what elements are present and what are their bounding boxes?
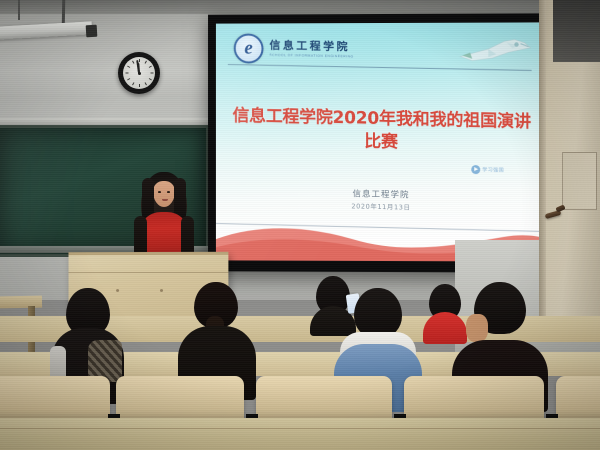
clock-center-pin xyxy=(138,72,141,75)
ceiling-band xyxy=(0,0,600,14)
chair-2[interactable] xyxy=(116,376,244,422)
presenter xyxy=(133,172,195,258)
classroom-photo: e 信息工程学院 SCHOOL OF INFORMATION ENGINEERI… xyxy=(0,0,600,450)
logo-name-en: SCHOOL OF INFORMATION ENGINEERING xyxy=(269,54,353,59)
clock-face xyxy=(123,57,155,89)
logo-name-cn: 信息工程学院 xyxy=(269,40,353,53)
slide-title: 信息工程学院2020年我和我的祖国演讲比赛 xyxy=(232,105,532,158)
projection-screen[interactable]: e 信息工程学院 SCHOOL OF INFORMATION ENGINEERI… xyxy=(208,13,560,272)
logo-letter: e xyxy=(236,38,262,57)
logo-text-block: 信息工程学院 SCHOOL OF INFORMATION ENGINEERING xyxy=(269,40,353,59)
chair-4[interactable] xyxy=(404,376,544,422)
light-end-cap xyxy=(86,25,98,38)
side-desk-left xyxy=(0,296,42,309)
corner-logo: 学习强国 xyxy=(471,165,504,175)
corner-logo-text: 学习强国 xyxy=(482,166,504,174)
cabinet-edge xyxy=(539,0,546,330)
light-support-rod-2 xyxy=(18,0,20,20)
screen-display-area: e 信息工程学院 SCHOOL OF INFORMATION ENGINEERI… xyxy=(216,22,548,261)
school-logo: e 信息工程学院 SCHOOL OF INFORMATION ENGINEERI… xyxy=(234,33,354,65)
student-4-head xyxy=(354,288,402,338)
cabinet-dark-upper xyxy=(553,0,600,62)
presenter-eye-right xyxy=(167,191,170,193)
logo-e-emblem-icon: e xyxy=(234,33,264,63)
wall-clock xyxy=(118,52,160,94)
presenter-mouth xyxy=(162,199,168,201)
chair-1[interactable] xyxy=(0,376,110,420)
student-6-ear-neck xyxy=(466,314,488,342)
presenter-eye-left xyxy=(158,191,161,193)
presentation-slide: e 信息工程学院 SCHOOL OF INFORMATION ENGINEERI… xyxy=(216,22,548,261)
cabinet-panel xyxy=(562,152,597,210)
front-desk xyxy=(0,418,600,450)
chair-3[interactable] xyxy=(256,376,392,422)
airplane-icon xyxy=(458,35,532,65)
chair-5[interactable] xyxy=(556,376,600,422)
corner-logo-icon xyxy=(471,165,480,174)
